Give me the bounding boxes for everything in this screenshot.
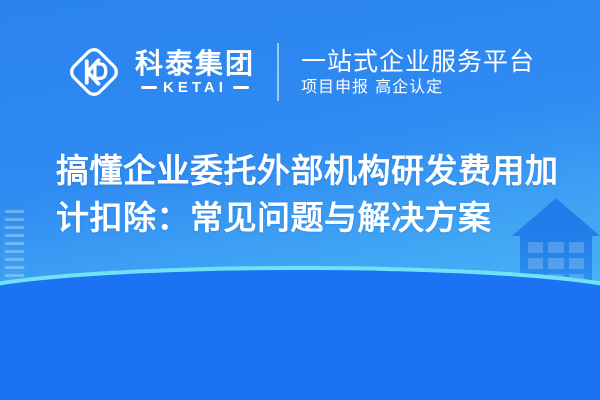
skyscraper-icon: [2, 204, 27, 322]
brand-text: 科泰集团 KETAI: [135, 50, 255, 95]
brand-rule-right: [233, 86, 249, 89]
brand-name-en: KETAI: [163, 80, 227, 95]
brand-name-en-row: KETAI: [141, 80, 249, 95]
article-cover-banner: 科泰集团 KETAI 一站式企业服务平台 项目申报 高企认定 搞懂企业委托外部机…: [0, 0, 600, 400]
page-title: 搞懂企业委托外部机构研发费用加计扣除：常见问题与解决方案: [56, 148, 560, 242]
small-office-building-icon: [460, 282, 524, 338]
skyscraper-cap: [4, 196, 21, 208]
tagline-sub: 项目申报 高企认定: [301, 79, 535, 95]
small-office-windows: [466, 290, 518, 330]
header-divider: [277, 43, 279, 101]
skyscraper-windows: [5, 210, 24, 318]
building-windows: [528, 242, 584, 332]
brand-rule-left: [141, 86, 157, 89]
brand-lockup[interactable]: 科泰集团 KETAI: [65, 43, 255, 101]
page-title-wrap: 搞懂企业委托外部机构研发费用加计扣除：常见问题与解决方案: [56, 148, 560, 242]
low-building-icon: [22, 294, 52, 322]
low-building-windows: [26, 299, 48, 318]
tagline-main: 一站式企业服务平台: [301, 49, 535, 74]
tagline-block: 一站式企业服务平台 项目申报 高企认定: [301, 49, 535, 95]
ketai-diamond-kp-logo-icon: [65, 43, 123, 101]
low-building-secondary-icon: [48, 302, 70, 322]
curved-ground-icon: [0, 270, 600, 400]
ground-highlight: [0, 326, 600, 336]
brand-name-cn: 科泰集团: [135, 50, 255, 78]
building-body: [520, 236, 592, 340]
banner-header: 科泰集团 KETAI 一站式企业服务平台 项目申报 高企认定: [0, 36, 600, 108]
